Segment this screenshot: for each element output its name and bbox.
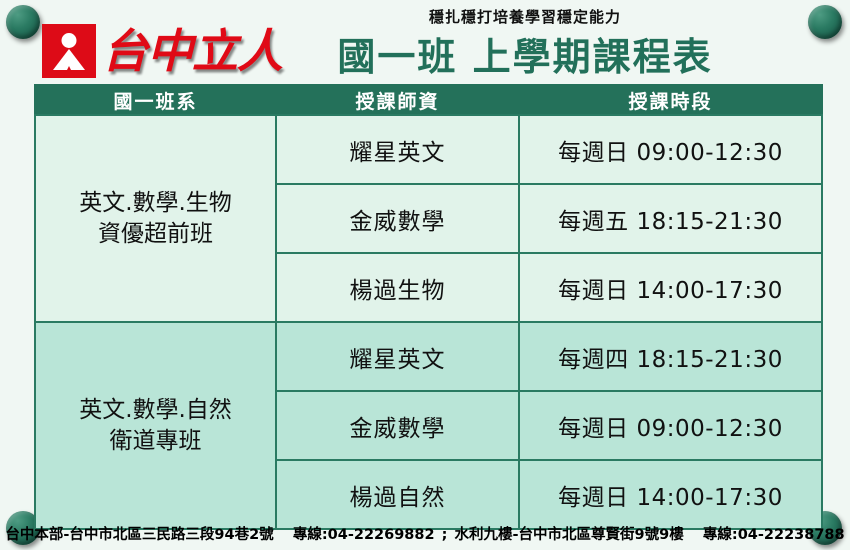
- group-name-line1: 英文.數學.生物: [40, 188, 271, 218]
- footer-branch1-phone: 專線:04-22269882: [293, 527, 435, 543]
- group-name-line2: 資優超前班: [40, 219, 271, 249]
- page-title: 國一班 上學期課程表: [0, 26, 850, 81]
- table-row: 英文.數學.生物 資優超前班 耀星英文 每週日 09:00-12:30: [35, 115, 822, 184]
- footer-branch2-phone: 專線:04-22238788: [703, 527, 845, 543]
- timeslot-cell: 每週日 09:00-12:30: [519, 391, 822, 460]
- group-name-cell: 英文.數學.自然 衛道專班: [35, 322, 276, 529]
- teacher-cell: 耀星英文: [276, 115, 519, 184]
- teacher-cell: 金威數學: [276, 184, 519, 253]
- course-schedule-poster: 台中立人 穩扎穩打培養學習穩定能力 國一班 上學期課程表 國一班系 授課師資 授…: [0, 0, 850, 550]
- timeslot-cell: 每週日 14:00-17:30: [519, 460, 822, 529]
- schedule-table: 國一班系 授課師資 授課時段 英文.數學.生物 資優超前班 耀星英文 每週日 0…: [34, 84, 823, 530]
- poster-subtitle: 穩扎穩打培養學習穩定能力: [0, 6, 850, 27]
- timeslot-cell: 每週日 14:00-17:30: [519, 253, 822, 322]
- teacher-cell: 楊過生物: [276, 253, 519, 322]
- table-row: 英文.數學.自然 衛道專班 耀星英文 每週四 18:15-21:30: [35, 322, 822, 391]
- footer-branch1-address: 台中本部-台中市北區三民路三段94巷2號: [5, 527, 273, 543]
- column-header-class: 國一班系: [35, 85, 276, 115]
- poster-header: 台中立人 穩扎穩打培養學習穩定能力 國一班 上學期課程表: [0, 0, 850, 84]
- timeslot-cell: 每週四 18:15-21:30: [519, 322, 822, 391]
- contact-footer: 台中本部-台中市北區三民路三段94巷2號 專線:04-22269882 ; 水利…: [0, 523, 850, 544]
- timeslot-cell: 每週日 09:00-12:30: [519, 115, 822, 184]
- group-name-line1: 英文.數學.自然: [40, 395, 271, 425]
- teacher-cell: 楊過自然: [276, 460, 519, 529]
- column-header-timeslot: 授課時段: [519, 85, 822, 115]
- footer-branch2-address: 水利九樓-台中市北區尊賢街9號9樓: [455, 527, 684, 543]
- table-header-row: 國一班系 授課師資 授課時段: [35, 85, 822, 115]
- column-header-teacher: 授課師資: [276, 85, 519, 115]
- group-name-line2: 衛道專班: [40, 426, 271, 456]
- group-name-cell: 英文.數學.生物 資優超前班: [35, 115, 276, 322]
- teacher-cell: 金威數學: [276, 391, 519, 460]
- timeslot-cell: 每週五 18:15-21:30: [519, 184, 822, 253]
- teacher-cell: 耀星英文: [276, 322, 519, 391]
- footer-separator: ;: [440, 527, 450, 543]
